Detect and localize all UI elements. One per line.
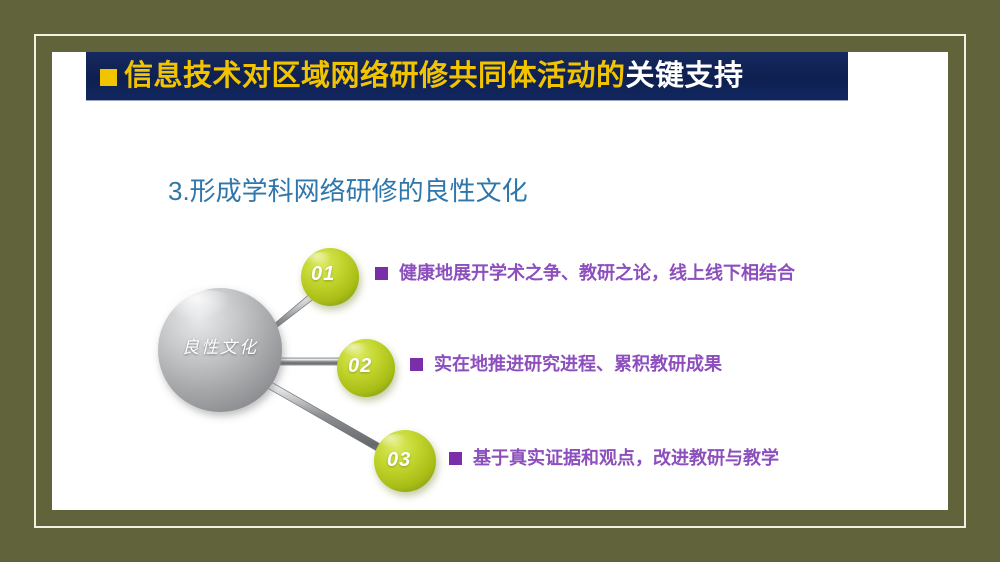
node-circle-03: [374, 430, 436, 492]
node-circle-01: [301, 248, 359, 306]
square-bullet-icon: [410, 358, 423, 371]
slide-frame: 信息技术对区域网络研修共同体活动的 关键支持 3.形成学科网络研修的良性文化: [0, 0, 1000, 562]
hub-sphere: [158, 288, 282, 412]
bullet-text-03: 基于真实证据和观点，改进教研与教学: [473, 449, 779, 467]
bullet-text-01: 健康地展开学术之争、教研之论，线上线下相结合: [399, 264, 795, 282]
bullet-row-01: 健康地展开学术之争、教研之论，线上线下相结合: [375, 264, 795, 282]
bullet-row-02: 实在地推进研究进程、累积教研成果: [410, 355, 722, 373]
square-bullet-icon: [375, 267, 388, 280]
bullet-text-02: 实在地推进研究进程、累积教研成果: [434, 355, 722, 373]
square-bullet-icon: [449, 452, 462, 465]
node-circle-02: [337, 339, 395, 397]
bullet-row-03: 基于真实证据和观点，改进教研与教学: [449, 449, 779, 467]
